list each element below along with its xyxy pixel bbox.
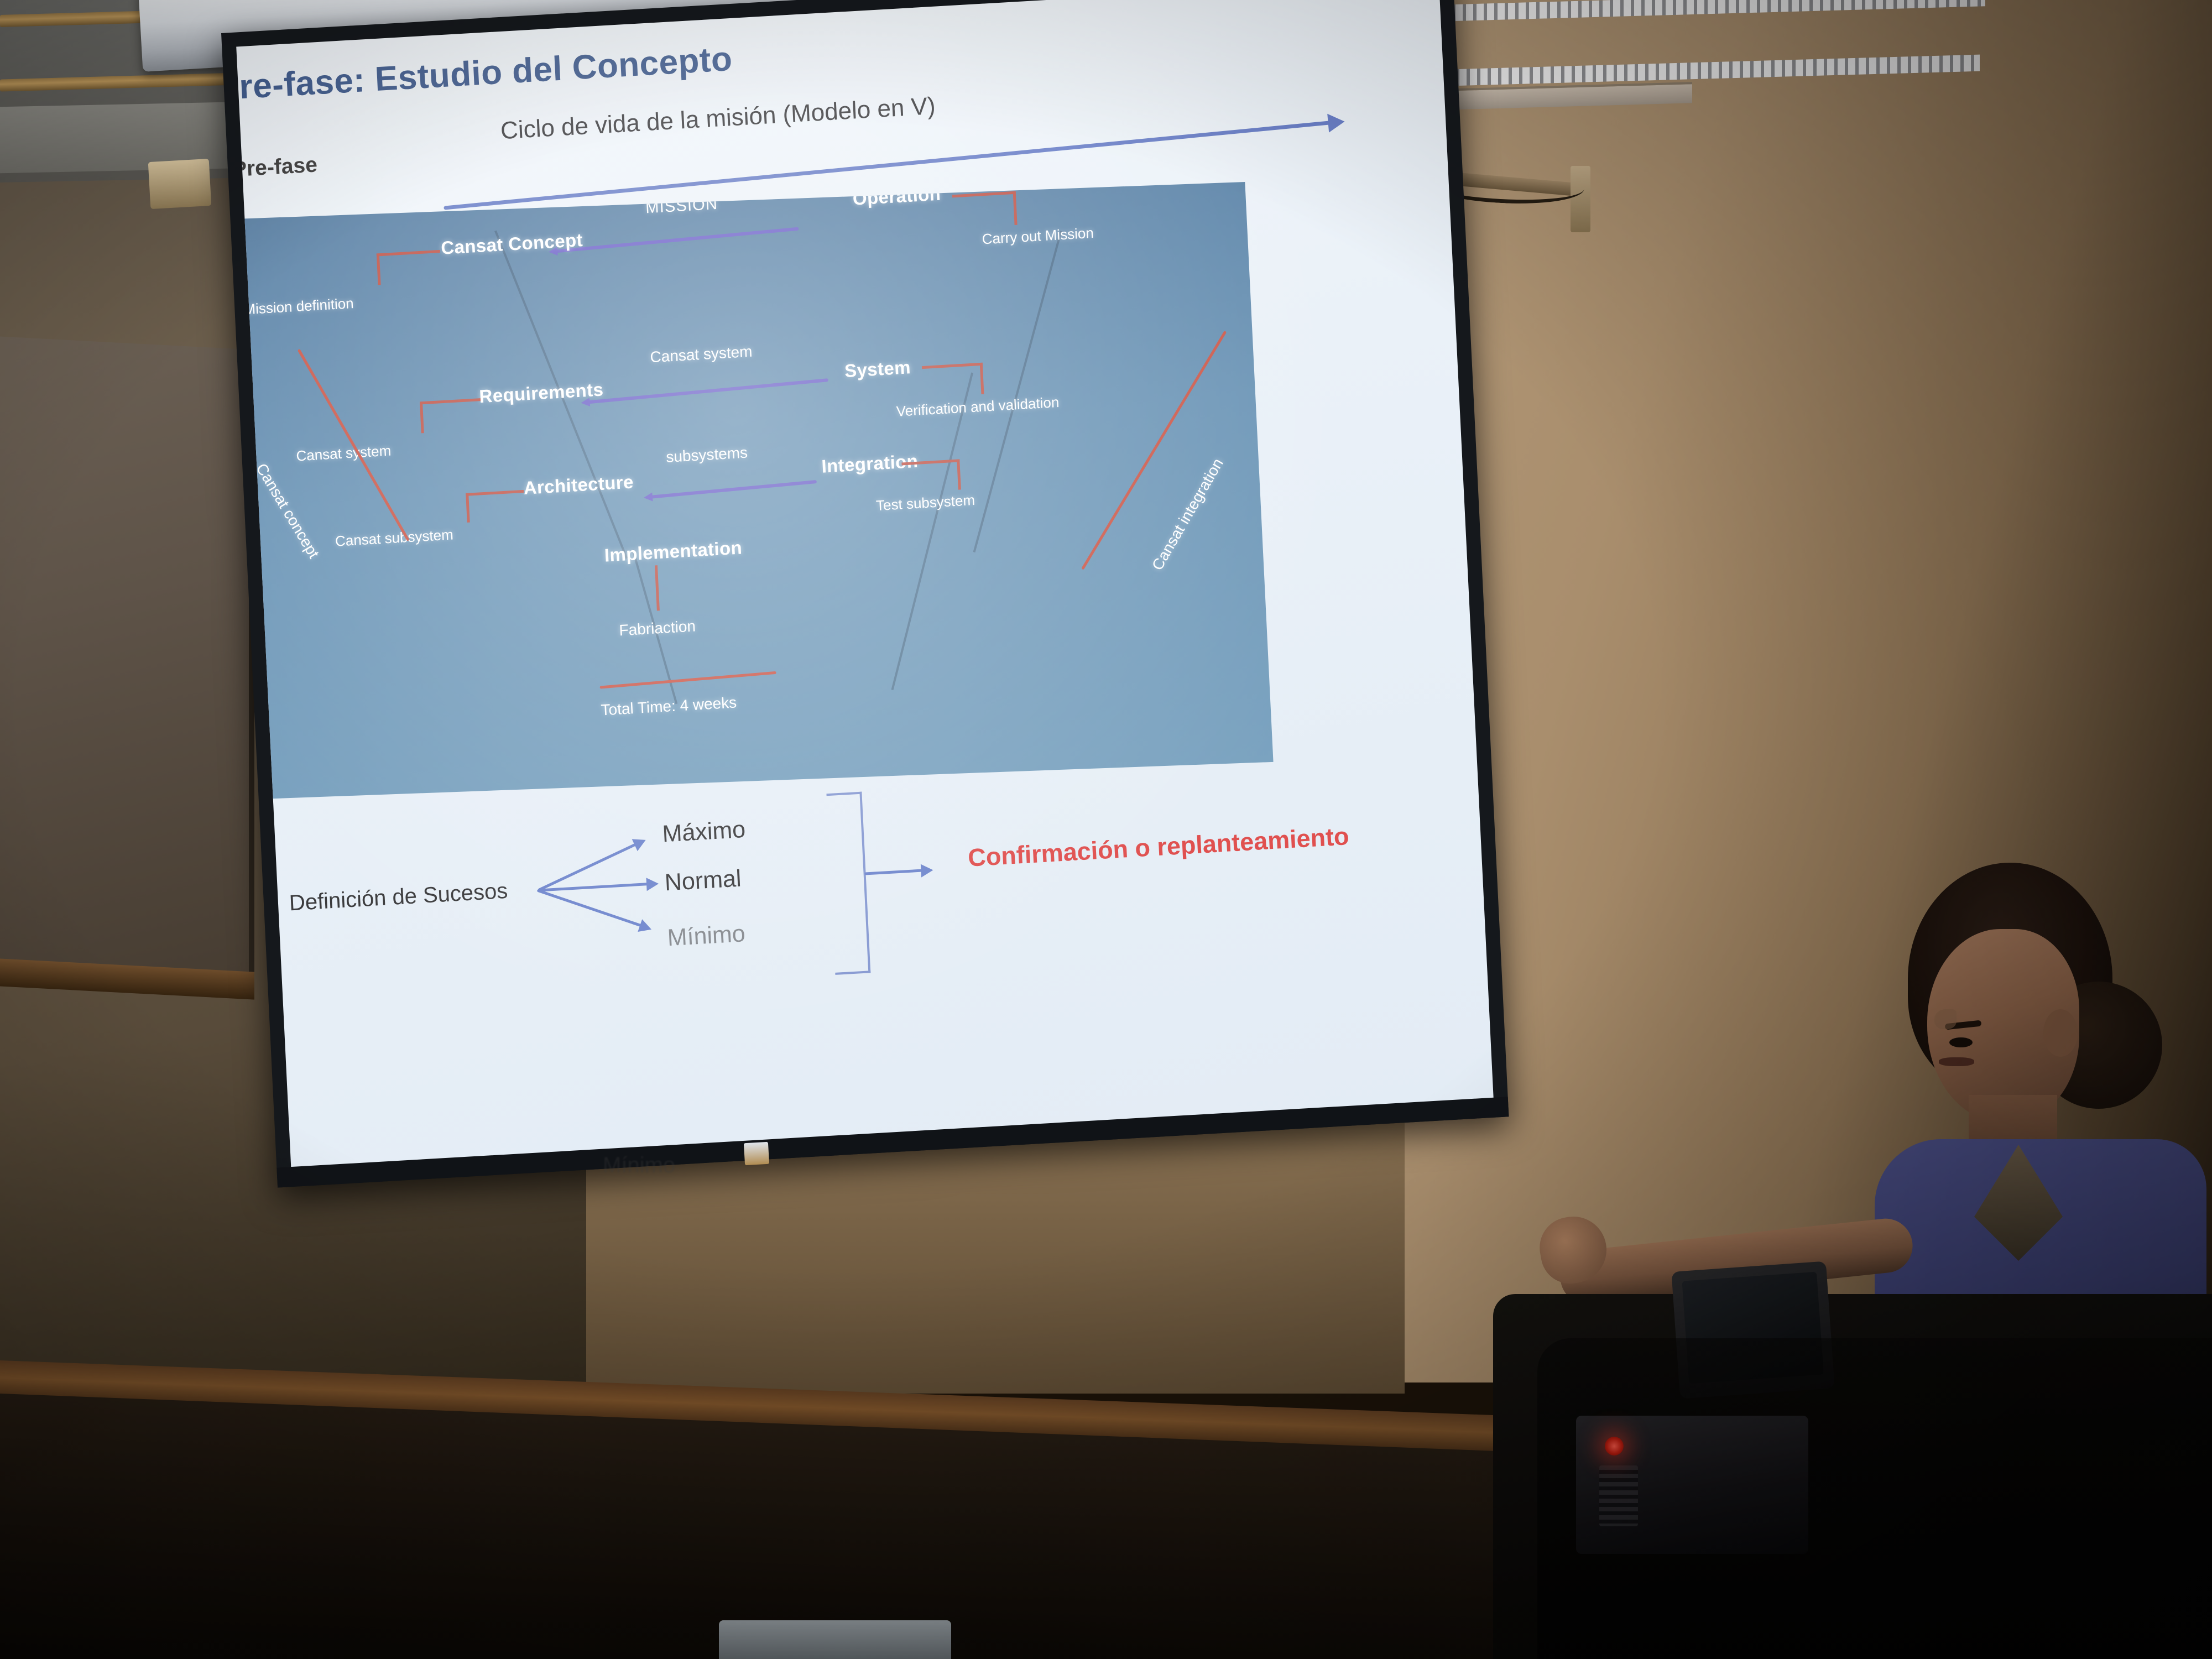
v-detail-text: Verification and validation	[896, 394, 1060, 420]
projector-power-led-icon	[1605, 1437, 1624, 1455]
v-detail-test-subsystem: Test subsystem	[875, 492, 975, 514]
v-detail-cansat-subsystem: Cansat subsystem	[335, 526, 453, 550]
cross-link-line-mission	[551, 227, 799, 254]
v-detail-text: Mission definition	[243, 295, 354, 317]
nose	[1934, 1009, 1957, 1029]
v-stroke-right-upper	[973, 231, 1062, 552]
v-stage-system: System	[844, 357, 911, 382]
connector-cansat-subsystem	[466, 490, 525, 523]
mission-lifecycle-label: Ciclo de vida de la misión (Modelo en V)	[500, 92, 936, 145]
connector-cansat-system	[420, 398, 482, 433]
projector-vent	[1599, 1465, 1638, 1526]
v-detail-verification-validation: Verification and validation	[896, 394, 1060, 420]
prefase-label: Pre-fase	[236, 153, 318, 182]
diagonal-label-cansat-integration: Cansat integration	[1149, 456, 1227, 573]
wall-board	[0, 336, 254, 991]
presentation-slide: Pre-fase: Estudio del Concepto Pre-fase …	[236, 0, 1494, 1168]
ear	[2043, 1009, 2078, 1057]
v-detail-carry-out-mission: Carry out Mission	[982, 225, 1094, 248]
connector-verification	[922, 363, 984, 398]
diagonal-line-right	[1081, 331, 1227, 570]
option-maximo: Máximo	[662, 816, 747, 848]
connector-test-subsystem	[901, 459, 961, 493]
v-detail-text: Cansat system	[296, 442, 392, 465]
v-stroke-right	[891, 373, 974, 690]
screen-center-clip	[744, 1142, 769, 1165]
fan-arrow-minimo-icon	[537, 889, 650, 930]
connector-carry-out-mission	[952, 191, 1018, 229]
v-detail-fabriaction: Fabriaction	[619, 617, 696, 639]
options-brace	[826, 792, 870, 975]
connector-mission-definition	[377, 250, 442, 285]
total-time-label: Total Time: 4 weeks	[601, 693, 737, 719]
option-normal: Normal	[664, 865, 742, 896]
connector-fabriaction	[655, 565, 662, 611]
confirmacion-replanteamiento-text: Confirmación o replanteamiento	[967, 822, 1350, 873]
v-detail-cansat-system: Cansat system	[296, 442, 392, 465]
diagonal-line-left	[298, 349, 410, 541]
v-detail-text: Carry out Mission	[982, 225, 1094, 248]
mouth	[1939, 1057, 1974, 1066]
eye	[1949, 1037, 1973, 1047]
slide-title: Pre-fase: Estudio del Concepto	[236, 45, 625, 108]
classroom-photo-scene: Pre-fase: Estudio del Concepto Pre-fase …	[0, 0, 2212, 1659]
brace-arrow-icon	[864, 869, 931, 875]
v-model-panel: MISSION Cansat system subsystems Cansat …	[236, 182, 1273, 799]
v-stage-architecture: Architecture	[523, 471, 634, 498]
projection-screen-frame: Pre-fase: Estudio del Concepto Pre-fase …	[221, 0, 1509, 1188]
projection-spill-minimo: Mínimo	[603, 1153, 835, 1178]
cross-link-line-subsystems	[646, 480, 817, 499]
total-time-arrow-icon	[599, 671, 776, 689]
definicion-sucesos-label: Definición de Sucesos	[289, 879, 508, 916]
diagonal-label-cansat-concept: Cansat concept	[252, 460, 322, 561]
cross-link-label-mission: MISSION	[645, 195, 718, 217]
v-stage-implementation: Implementation	[604, 537, 743, 566]
cross-link-label-subsystems: subsystems	[666, 444, 748, 466]
v-stage-operation: Operation	[852, 184, 941, 210]
v-detail-mission-definition: Mission definition	[243, 295, 354, 318]
floor-object	[719, 1620, 951, 1659]
v-detail-text: Test subsystem	[875, 492, 975, 514]
cross-link-line-cansat-system	[583, 378, 828, 404]
projection-screen-roller-cap	[148, 159, 212, 209]
v-detail-text: Cansat subsystem	[335, 526, 453, 549]
option-minimo: Mínimo	[667, 920, 746, 952]
cross-link-label-cansat-system: Cansat system	[650, 343, 753, 367]
projection-screen-surface: Pre-fase: Estudio del Concepto Pre-fase …	[236, 0, 1494, 1168]
v-stage-cansat-concept: Cansat Concept	[441, 229, 583, 259]
